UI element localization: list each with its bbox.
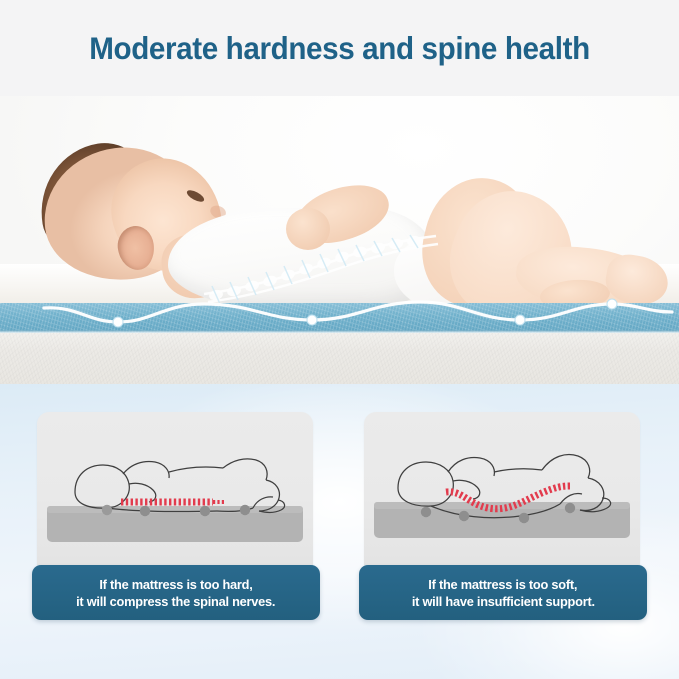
mattress-base-layer [0,333,679,384]
wave-dot [113,317,123,327]
comparison-card-too-hard[interactable]: If the mattress is too hard, it will com… [32,412,320,620]
baby-on-soft-mattress-icon [364,412,640,565]
baby-on-hard-mattress-icon [37,412,313,565]
comparison-card-too-soft[interactable]: If the mattress is too soft, it will hav… [359,412,647,620]
caption-too-hard: If the mattress is too hard, it will com… [32,565,320,620]
product-infographic: Moderate hardness and spine health [0,0,679,679]
wave-dot [307,315,317,325]
caption-line-2: it will compress the spinal nerves. [76,594,275,609]
wave-dot [515,315,525,325]
comparison-section: If the mattress is too hard, it will com… [0,384,679,679]
illustration-too-hard [37,412,313,565]
page-title: Moderate hardness and spine health [20,30,658,67]
caption-line-1: If the mattress is too soft, [429,577,578,592]
mattress-wave-line [0,292,679,336]
wave-dot [607,299,617,309]
caption-too-soft: If the mattress is too soft, it will hav… [359,565,647,620]
illustration-too-soft [364,412,640,565]
title-band: Moderate hardness and spine health [0,0,679,96]
hero-photo [0,96,679,384]
caption-line-1: If the mattress is too hard, [99,577,252,592]
caption-line-2: it will have insufficient support. [412,594,595,609]
